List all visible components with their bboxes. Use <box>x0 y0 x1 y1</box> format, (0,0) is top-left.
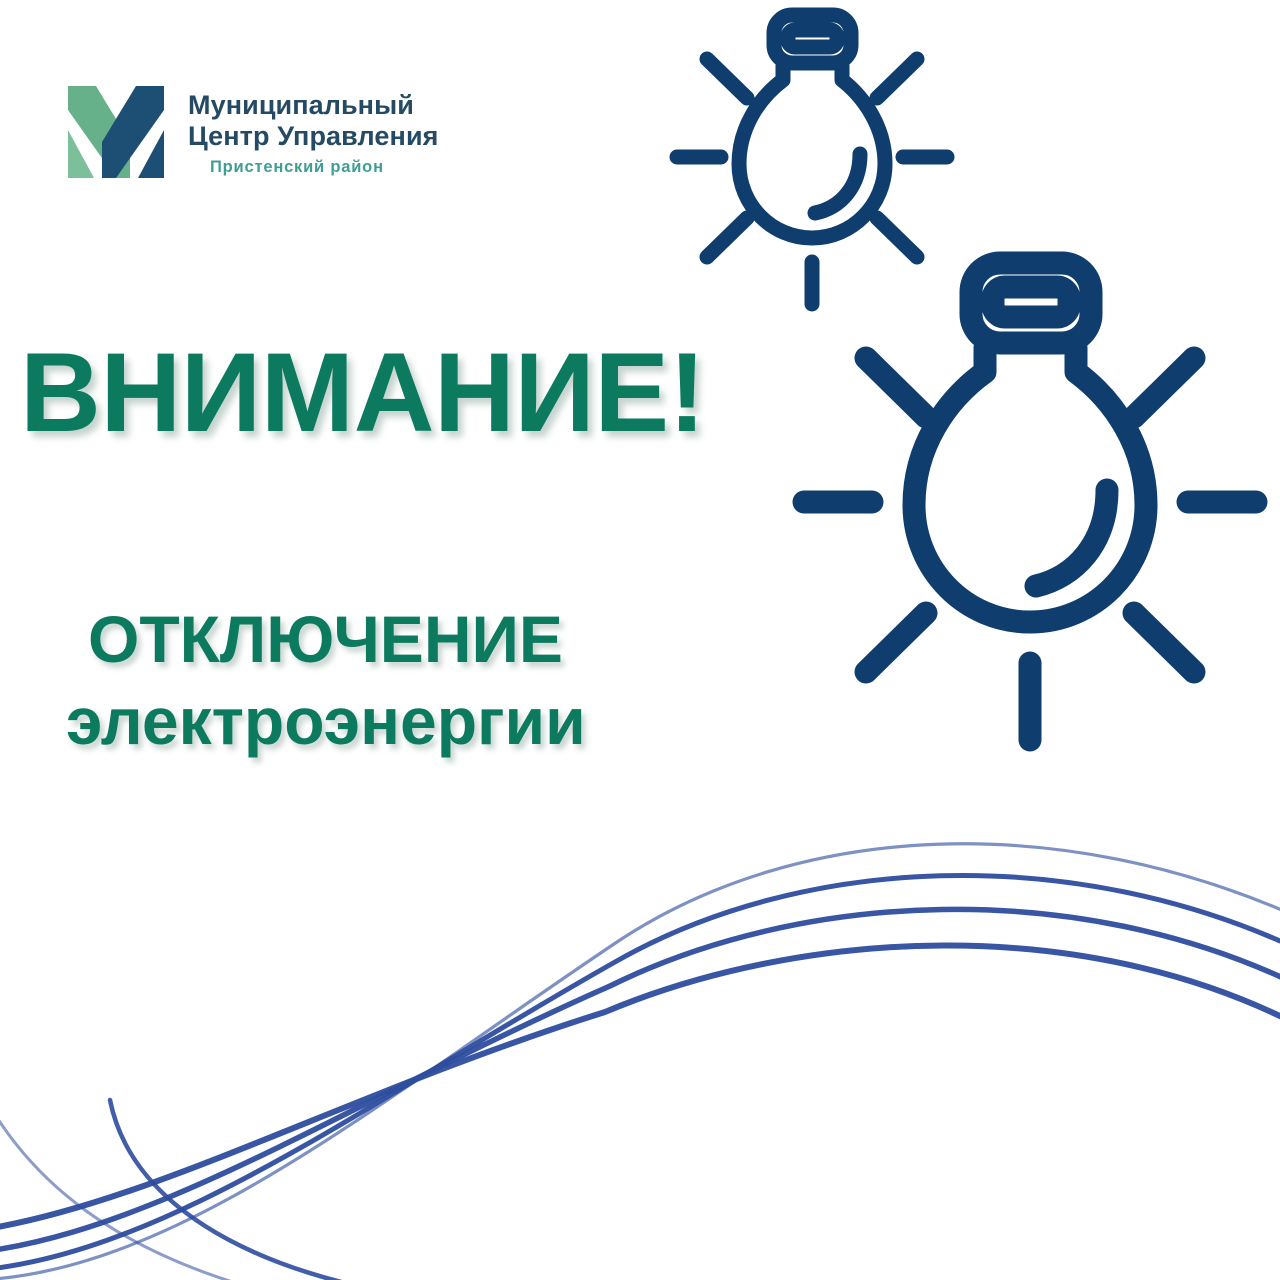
logo-subtitle-district: Пристенский район <box>210 158 439 177</box>
logo-wordmark: Муниципальный Центр Управления Пристенск… <box>188 84 439 177</box>
logo-title-line-1: Муниципальный <box>188 90 439 121</box>
poster-canvas: Муниципальный Центр Управления Пристенск… <box>0 0 1280 1280</box>
mcu-m-logo-mark-icon <box>62 84 170 180</box>
message-line-outage: ОТКЛЮЧЕНИЕ <box>88 606 563 672</box>
logo-title-line-2: Центр Управления <box>188 121 439 152</box>
wave-lines-decoration <box>0 800 1280 1280</box>
message-line-electricity: электроэнергии <box>66 688 586 754</box>
headline-attention: ВНИМАНИЕ! <box>20 337 705 449</box>
light-bulb-icon-large <box>780 245 1280 775</box>
organization-logo: Муниципальный Центр Управления Пристенск… <box>62 84 439 180</box>
